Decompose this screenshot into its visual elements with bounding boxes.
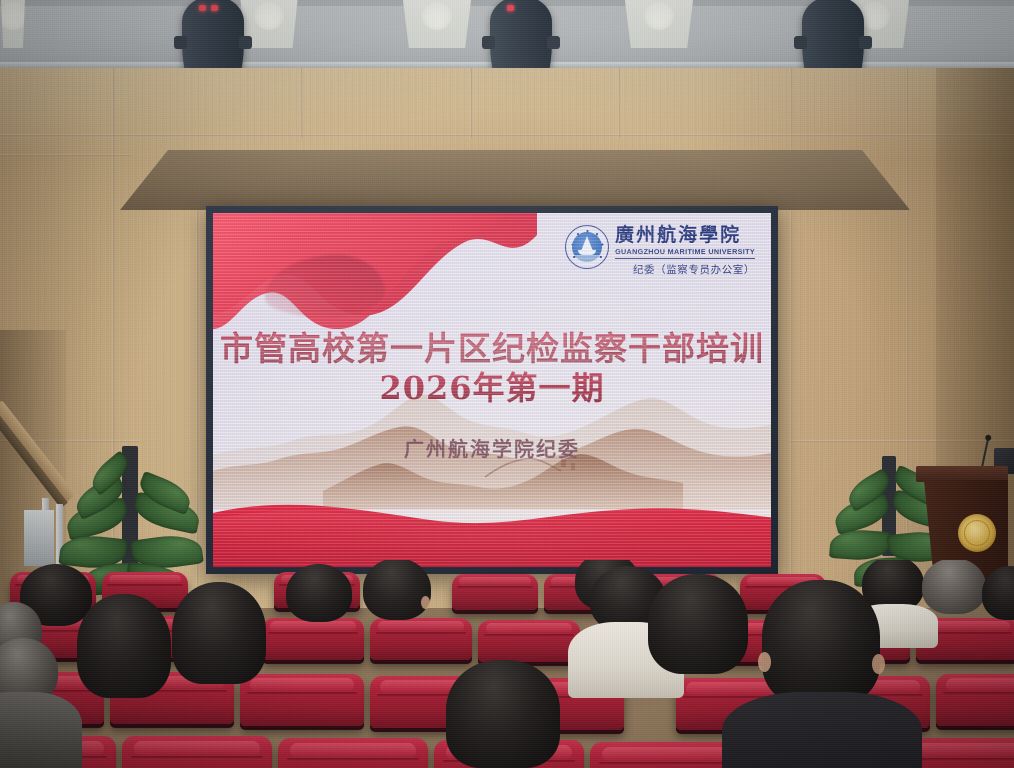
university-logo-block: 廣州航海學院 GUANGZHOU MARITIME UNIVERSITY 纪委（…	[565, 225, 755, 277]
university-name-en: GUANGZHOU MARITIME UNIVERSITY	[615, 247, 755, 259]
light-yoke	[174, 36, 187, 49]
presentation-screen[interactable]: 廣州航海學院 GUANGZHOU MARITIME UNIVERSITY 纪委（…	[213, 213, 771, 567]
person-shoulders	[722, 692, 922, 768]
person-head	[446, 660, 560, 768]
panel-seam	[0, 154, 130, 156]
theater-seat[interactable]	[240, 674, 364, 726]
person-head	[982, 566, 1014, 620]
light-yoke	[239, 36, 252, 49]
theater-seat[interactable]	[122, 736, 272, 768]
audience-seating-area	[0, 560, 1014, 768]
seal-wave-icon	[572, 255, 602, 262]
sailboat-sail-icon	[581, 236, 593, 251]
theater-seat[interactable]	[590, 742, 740, 768]
light-yoke	[547, 36, 560, 49]
slide-title-group: 市管高校第一片区纪检监察干部培训 2026年第一期 广州航海学院纪委	[213, 329, 771, 462]
indicator-led	[211, 5, 218, 11]
indicator-led	[199, 5, 206, 11]
person-head	[762, 580, 880, 704]
university-name-cn: 廣州航海學院	[615, 225, 755, 246]
theater-seat[interactable]	[278, 738, 428, 768]
person-ear	[872, 654, 885, 674]
person-ear	[421, 596, 430, 609]
podium-top-surface	[916, 466, 1008, 482]
slide-organizer: 广州航海学院纪委	[213, 433, 771, 462]
seal-inner-disc	[572, 232, 602, 262]
panel-seam	[0, 134, 1014, 136]
railing-post	[24, 510, 54, 566]
person-head	[922, 560, 986, 614]
slide-title-main: 市管高校第一片区纪检监察干部培训	[213, 329, 771, 369]
auditorium-photo: 廣州航海學院 GUANGZHOU MARITIME UNIVERSITY 纪委（…	[0, 0, 1014, 768]
panel-seam	[300, 68, 302, 138]
light-yoke	[794, 36, 807, 49]
theater-seat[interactable]	[936, 674, 1014, 726]
slide-title-sub: 2026年第一期	[213, 369, 771, 409]
theater-seat[interactable]	[262, 618, 364, 660]
person-head	[648, 574, 748, 674]
person-head	[286, 564, 352, 622]
recessed-ceiling-light	[400, 0, 474, 48]
person-head	[363, 560, 431, 620]
podium-emblem-icon	[958, 514, 996, 552]
theater-seat[interactable]	[478, 620, 580, 662]
theater-seat[interactable]	[370, 618, 472, 660]
department-name: 纪委（监察专员办公室）	[615, 262, 755, 277]
light-yoke	[482, 36, 495, 49]
panel-seam	[470, 68, 472, 138]
person-head	[172, 582, 266, 684]
indicator-led	[507, 5, 514, 11]
university-seal-icon	[565, 225, 609, 269]
logo-text-group: 廣州航海學院 GUANGZHOU MARITIME UNIVERSITY 纪委（…	[615, 225, 755, 277]
recessed-ceiling-light	[622, 0, 696, 48]
ceiling-soffit	[120, 150, 910, 210]
panel-seam	[618, 68, 620, 138]
person-ear	[758, 652, 771, 672]
person-head	[77, 594, 171, 698]
led-screen-bezel: 廣州航海學院 GUANGZHOU MARITIME UNIVERSITY 纪委（…	[206, 206, 778, 574]
theater-seat[interactable]	[452, 574, 538, 610]
light-yoke	[859, 36, 872, 49]
panel-seam	[790, 68, 792, 608]
person-shoulders	[0, 692, 82, 768]
recessed-ceiling-light	[0, 0, 26, 48]
